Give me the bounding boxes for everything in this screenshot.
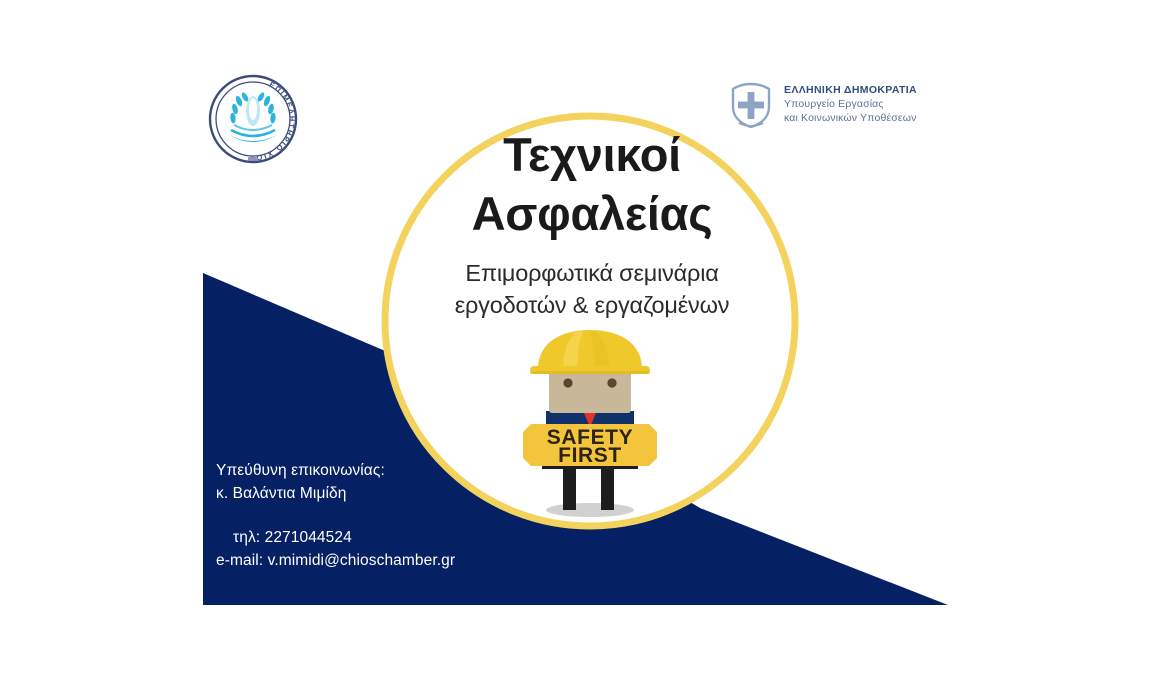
safety-worker: SAFETY FIRST (497, 328, 683, 524)
safety-first-sign: SAFETY FIRST (523, 424, 657, 467)
chios-chamber-logo: ΕΠΙΜΕΛΗΤΗΡΙΟ ΧΙΟΥ (205, 73, 301, 165)
contact-spacer (216, 506, 455, 526)
ministry-logo: ΕΛΛΗΝΙΚΗ ΔΗΜΟΚΡΑΤΙΑ Υπουργείο Εργασίας κ… (729, 76, 934, 134)
worker-shadow (546, 503, 634, 517)
contact-person: κ. Βαλάντια Μιμίδη (216, 482, 455, 505)
headline-block: Τεχνικοί Ασφαλείας Επιμορφωτικά σεμινάρι… (392, 128, 792, 321)
title-line-2: Ασφαλείας (392, 187, 792, 242)
contact-email: e-mail: v.mimidi@chioschamber.gr (216, 549, 455, 572)
ministry-line-1: ΕΛΛΗΝΙΚΗ ΔΗΜΟΚΡΑΤΙΑ (784, 84, 917, 98)
contact-block: Υπεύθυνη επικοινωνίας: κ. Βαλάντια Μιμίδ… (216, 459, 455, 572)
worker-helmet (530, 330, 650, 374)
contact-label: Υπεύθυνη επικοινωνίας: (216, 459, 455, 482)
subtitle-line-1: Επιμορφωτικά σεμινάρια (392, 258, 792, 289)
sign-line-2: FIRST (558, 444, 622, 467)
subtitle-line-2: εργοδοτών & εργαζομένων (392, 290, 792, 321)
ministry-line-3: και Κοινωνικών Υποθέσεων (784, 112, 917, 126)
hellenic-republic-emblem (729, 82, 773, 129)
ministry-text: ΕΛΛΗΝΙΚΗ ΔΗΜΟΚΡΑΤΙΑ Υπουργείο Εργασίας κ… (784, 84, 917, 126)
chamber-seal: ΕΠΙΜΕΛΗΤΗΡΙΟ ΧΙΟΥ (210, 76, 296, 163)
title-line-1: Τεχνικοί (392, 128, 792, 183)
contact-phone: τηλ: 2271044524 (216, 526, 455, 549)
poster-canvas: ΕΠΙΜΕΛΗΤΗΡΙΟ ΧΙΟΥ (0, 0, 1170, 694)
worker-legs (542, 460, 638, 510)
ministry-line-2: Υπουργείο Εργασίας (784, 98, 917, 112)
subtitle-block: Επιμορφωτικά σεμινάρια εργοδοτών & εργαζ… (392, 258, 792, 321)
